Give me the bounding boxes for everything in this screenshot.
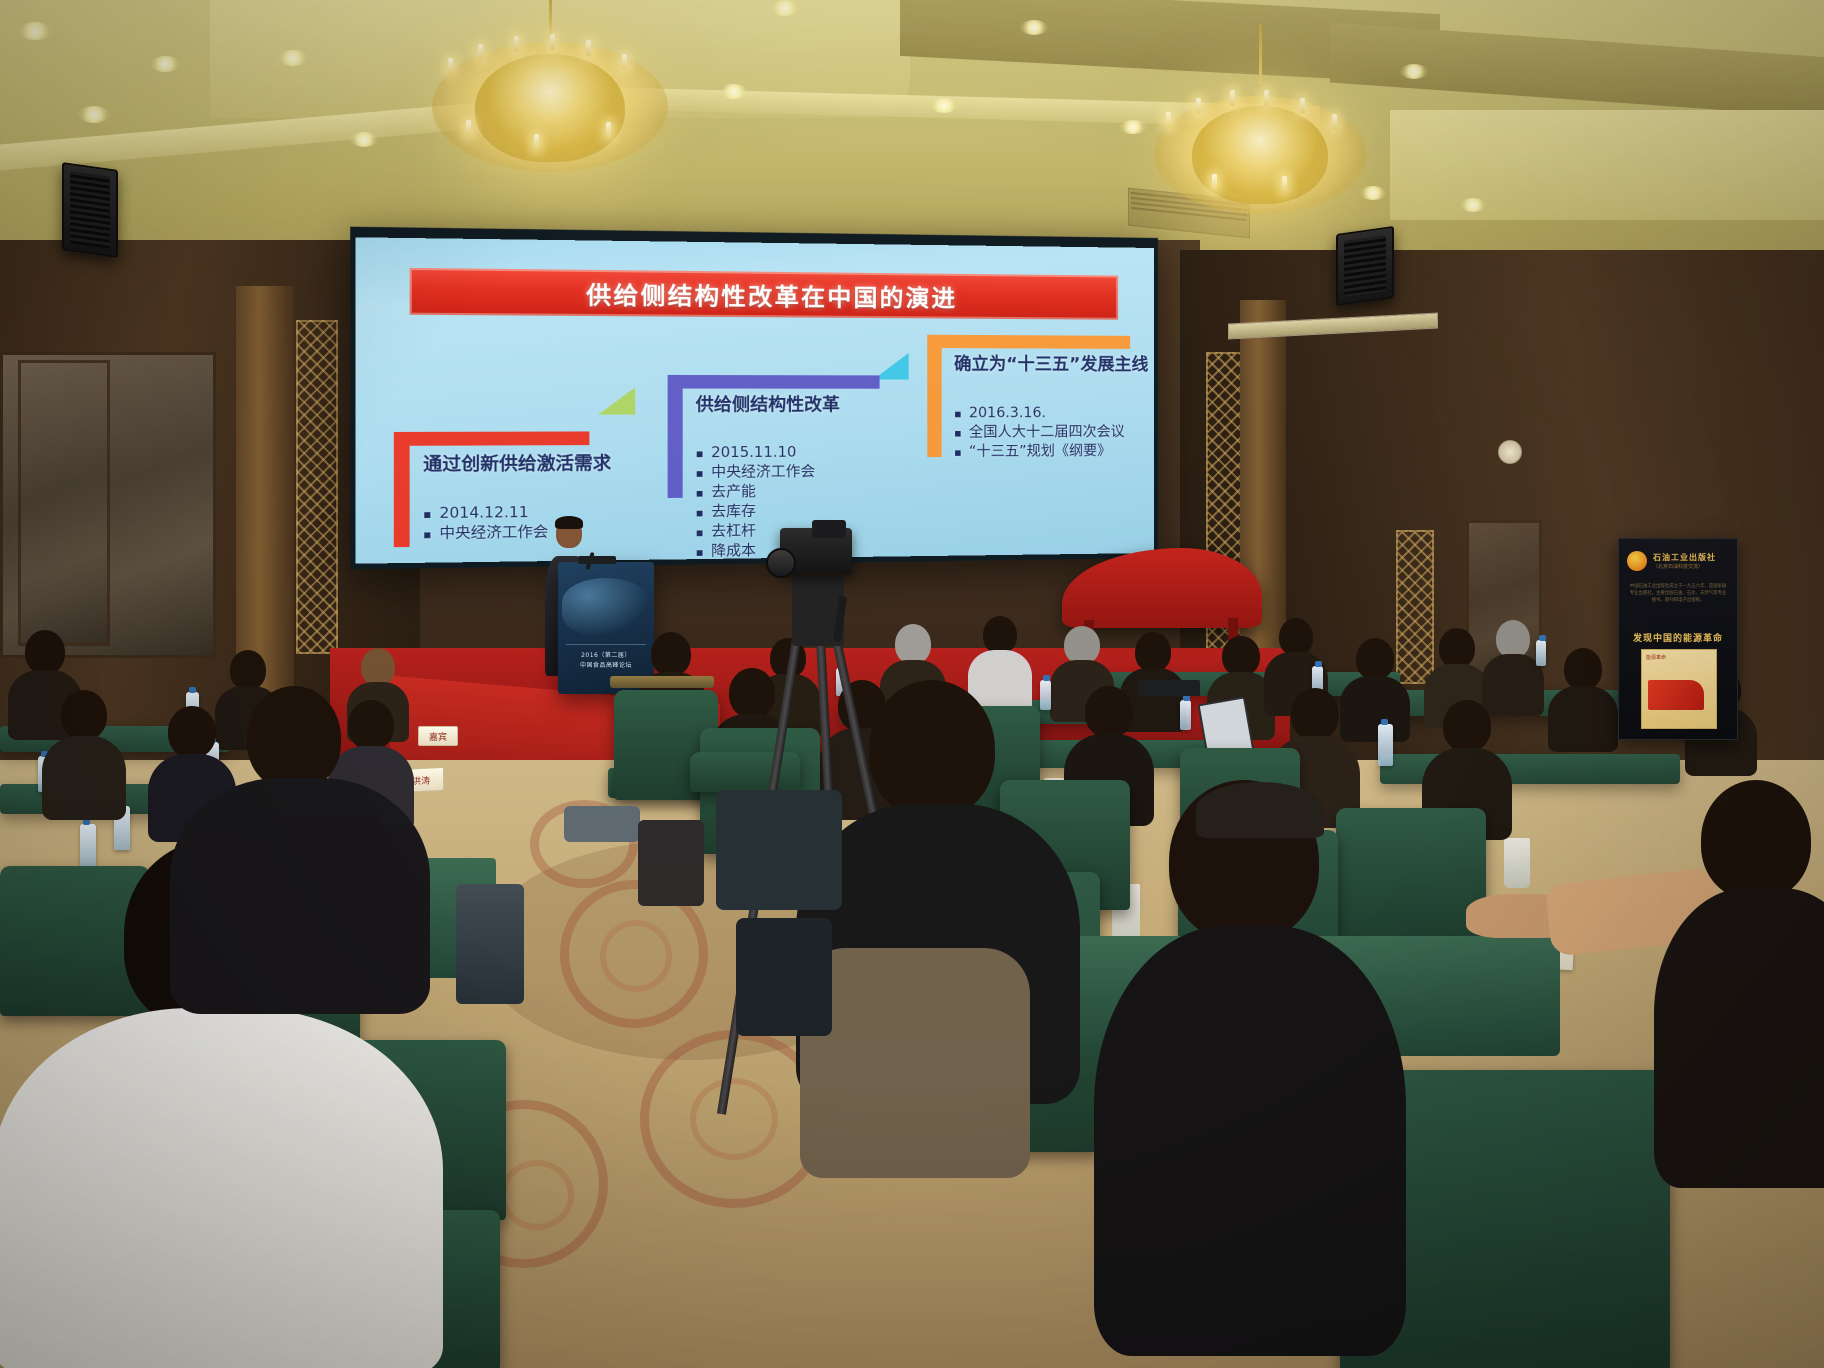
wall-mirror-left-2 [18,360,110,646]
banner-org-name: 石油工业出版社 [1653,552,1716,563]
carpet-motif-4 [690,1078,778,1160]
attendee-head [1356,638,1394,680]
attendee-foreground-cap [1086,780,1406,1368]
column-3-accent-bar-vertical [927,335,941,457]
chandelier-candle [606,122,611,138]
attendee-head [1222,636,1260,676]
slide-column-3: 确立为“十三五”发展主线 2016.3.16. 全国人大十二届四次会议 “十三五… [927,335,1154,529]
chandelier-candle [622,54,627,70]
column-3-accent-bar-horizontal [927,335,1130,349]
banner-org-sub: （北京石油科技交流） [1653,563,1703,570]
downlight-10 [1120,120,1146,134]
ceiling-panel-right [1390,110,1824,220]
list-item: 中央经济工作会 [423,523,548,544]
attendee-head [651,632,691,676]
presentation-slide: 供给侧结构性改革在中国的演进 通过创新供给激活需求 2014.12.11 中央经… [355,237,1154,563]
column-1-heading: 通过创新供给激活需求 [423,452,628,476]
attendee-trousers [800,948,1030,1178]
chandelier-right [1150,24,1370,254]
attendee-head [1135,632,1171,672]
banner-body-text: 中国石油工业出版社成立于一九五六年，是国家级专业出版社，主要出版石油、石化、天然… [1629,583,1727,604]
attendee-head [247,686,341,790]
podium-line [566,644,646,645]
lattice-panel-left [296,320,338,654]
downlight-13 [1460,198,1486,212]
attendee-head [1279,618,1313,656]
attendee-head [25,630,65,674]
column-2-heading: 供给侧结构性改革 [696,394,903,417]
chandelier-candle [1332,114,1337,130]
attendee-head [1439,628,1475,668]
chandelier-crown [475,54,625,162]
column-1-accent-bar-horizontal [394,431,590,445]
chair [690,752,800,792]
list-item: 中央经济工作会 [696,463,816,483]
attendee-head [729,668,775,718]
chandelier-rod [1259,24,1262,84]
attendee-head [1564,648,1602,690]
chandelier-candle [1282,176,1287,192]
camera-lens-icon [766,548,796,578]
slide-column-1: 通过创新供给激活需求 2014.12.11 中央经济工作会 [394,431,632,560]
chandelier-candle [1230,90,1235,106]
attendee-head [1085,686,1133,738]
projection-screen: 供给侧结构性改革在中国的演进 通过创新供给激活需求 2014.12.11 中央经… [355,237,1154,563]
attendee-head [361,648,395,686]
attendee-torso [42,736,126,820]
list-item: 2015.11.10 [696,443,816,463]
arrow-green-icon [598,387,635,414]
chandelier-left [430,0,670,230]
attendee-head [1701,780,1811,900]
chandelier-candle [466,120,471,136]
attendee-head [869,680,995,818]
attendee-head [1443,700,1491,752]
list-item: 2016.3.16. [954,404,1146,423]
column-1-accent-bar-vertical [394,432,410,547]
trash-bin [456,884,524,1004]
wall-sconce-right [1498,440,1522,464]
downlight-8 [930,98,958,113]
presenter-hair [555,516,583,529]
list-item: 2014.12.11 [423,503,548,524]
drinking-glass [1504,838,1530,888]
chandelier-candle [448,58,453,74]
bag-on-floor [638,820,704,906]
chandelier-candle [586,40,591,56]
slide-title: 供给侧结构性改革在中国的演进 [410,268,1119,320]
downlight-4 [78,106,110,123]
downlight-9 [1020,20,1048,35]
downlight-7 [770,0,800,16]
downlight-2 [150,56,180,72]
chandelier-candle [514,36,519,52]
book-title: 能源革命 [1646,654,1666,661]
list-item: 去产能 [696,482,816,503]
bag-on-floor [564,806,640,842]
chandelier-candle [1300,98,1305,114]
attendee-torso [170,778,430,1014]
carpet-motif-6 [500,1160,574,1230]
podium-laptop [578,556,616,564]
book-flag-graphic [1648,680,1704,710]
podium-graphic [562,578,650,638]
chandelier-candle [550,34,555,50]
attendee-head [1064,626,1100,664]
loudspeaker-right [1336,226,1394,306]
attendee-foreground-right-edge [1660,780,1824,1200]
publisher-logo-icon [1627,551,1647,571]
banner-book-cover: 能源革命 [1641,649,1717,729]
carpet-motif-2 [600,920,672,992]
attendee-foreground-dark-jacket [176,686,446,1016]
camera-hood [812,520,846,538]
column-2-accent-bar-vertical [668,375,683,498]
attendee-cap-icon [1196,782,1324,838]
water-bottle [1378,724,1393,766]
attendee-head [1496,620,1530,658]
chandelier-candle [1212,174,1217,190]
downlight-11 [1400,64,1428,79]
attendee-torso [1548,686,1618,752]
chandelier-candle [478,44,483,60]
column-2-accent-bar-horizontal [668,375,880,389]
list-item: “十三五”规划《纲要》 [954,442,1146,462]
chandelier-candle [1166,112,1171,128]
chandelier-candle [1264,90,1269,106]
bag-on-floor [736,918,832,1036]
attendee-head [983,616,1017,654]
column-3-bullets: 2016.3.16. 全国人大十二届四次会议 “十三五”规划《纲要》 [954,404,1146,462]
downlight-5 [350,132,378,147]
downlight-6 [720,84,748,99]
column-1-bullets: 2014.12.11 中央经济工作会 [423,503,548,545]
attendee [1548,648,1618,756]
attendee-head [1291,688,1339,740]
rollup-banner: 石油工业出版社 （北京石油科技交流） 中国石油工业出版社成立于一九五六年，是国家… [1618,538,1738,740]
banner-headline: 发现中国的能源革命 [1619,631,1737,644]
attendee-head [61,690,107,740]
list-item: 去库存 [696,502,816,523]
bag-on-floor [716,790,842,910]
water-bottle [1180,700,1191,730]
chandelier-candle [534,134,539,150]
conference-hall-photo: 供给侧结构性改革在中国的演进 通过创新供给激活需求 2014.12.11 中央经… [0,0,1824,1368]
chair-gold-trim [610,676,714,688]
attendee-head [230,650,266,690]
downlight-1 [18,22,52,40]
downlight-3 [278,50,308,66]
water-bottle [1536,640,1546,666]
attendee-head [895,624,931,664]
loudspeaker-left [62,162,118,258]
list-item: 全国人大十二届四次会议 [954,423,1146,443]
attendee-torso [1094,926,1406,1356]
attendee-torso [0,1008,443,1368]
attendee-torso [1654,888,1824,1188]
attendee [44,690,124,820]
column-3-heading: 确立为“十三五”发展主线 [954,353,1154,376]
chandelier-candle [1196,98,1201,114]
